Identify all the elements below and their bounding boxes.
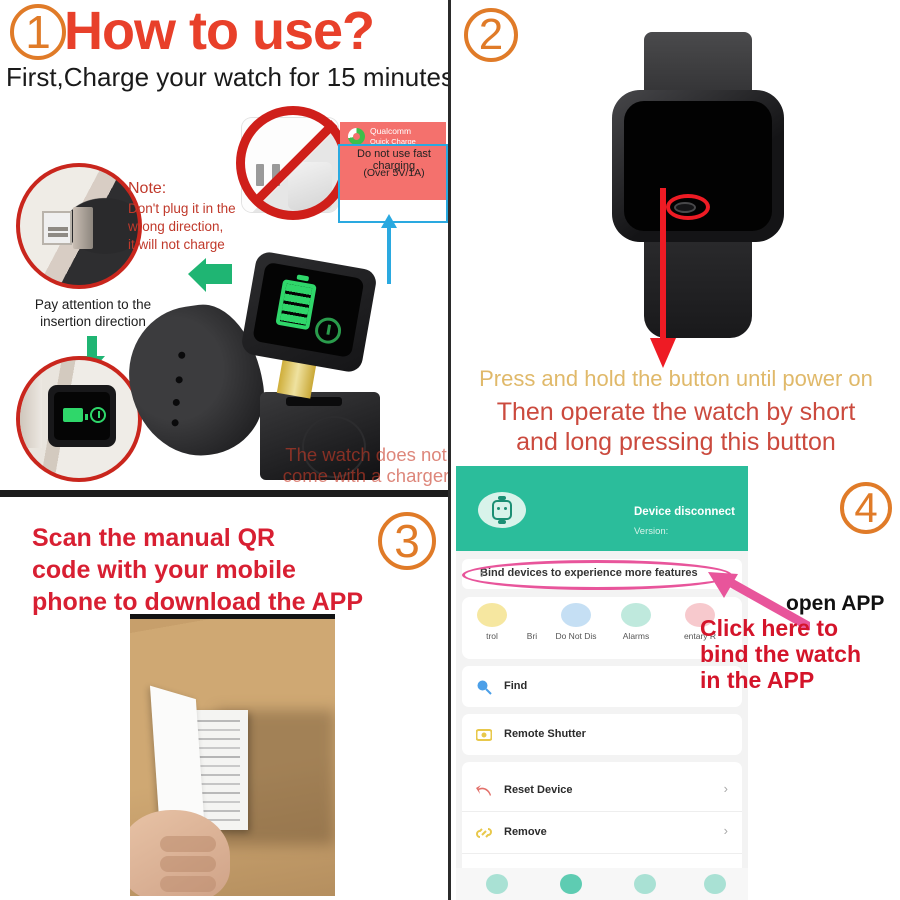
tab-1-icon[interactable] <box>486 874 508 894</box>
panel-how-to-use: 1 How to use? First,Charge your watch fo… <box>0 0 448 492</box>
fast-charge-spec: (Over 5V/1A) <box>343 167 445 179</box>
watch-icon <box>492 500 512 520</box>
chevron-right-icon: › <box>724 823 728 838</box>
alarms-icon <box>621 603 651 627</box>
scan-qr-line-2: code with your mobile <box>32 554 372 586</box>
brightness-icon <box>477 603 507 627</box>
battery-icon <box>63 408 83 422</box>
power-icon <box>313 316 343 346</box>
list-item[interactable]: Remove › <box>462 812 742 854</box>
power-icon <box>90 407 106 423</box>
note-header: Note: <box>128 178 236 199</box>
scan-qr-title: Scan the manual QR code with your mobile… <box>32 522 372 618</box>
step-number-2: 2 <box>464 8 518 62</box>
list-item[interactable]: Remote Shutter <box>462 714 742 755</box>
scan-qr-line-1: Scan the manual QR <box>32 522 372 554</box>
camera-icon <box>476 727 492 743</box>
avatar <box>478 492 526 528</box>
quick-icon-2[interactable]: Do Not Dis <box>548 603 604 641</box>
power-on-instruction: Press and hold the button until power on <box>452 366 900 392</box>
usb-port-edge <box>20 378 42 448</box>
chevron-right-icon: › <box>724 781 728 796</box>
no-fast-charge-graphic: Qualcomm Quick Charge Do not use fast ch… <box>240 112 446 230</box>
blue-arrow-icon <box>381 212 397 284</box>
horizontal-divider-right <box>452 459 900 463</box>
step-number-3: 3 <box>378 512 436 570</box>
note-line-1: Don't plug it in the <box>128 200 236 218</box>
operate-instruction-line1: Then operate the watch by short <box>452 398 900 427</box>
usb-port-icon <box>42 211 72 245</box>
note-line-3: it will not charge <box>128 236 236 254</box>
watch-head <box>240 250 378 374</box>
page-title: How to use? <box>64 0 374 62</box>
link-icon <box>476 825 492 841</box>
step-number-4: 4 <box>840 482 892 534</box>
search-icon <box>476 679 492 695</box>
quick-icon-3[interactable]: Alarms <box>608 603 664 641</box>
list-item-label: Reset Device <box>504 784 573 796</box>
quick-icon-label: Do Not Dis <box>548 631 604 641</box>
qualcomm-icon <box>348 128 365 145</box>
list-item[interactable]: Reset Device › <box>462 770 742 812</box>
app-header: Device disconnect Version: <box>456 466 748 551</box>
watch-case <box>612 90 784 242</box>
smartwatch-front-photo <box>588 32 808 332</box>
tab-2-icon[interactable] <box>560 874 582 894</box>
list-item-label: Find <box>504 680 527 692</box>
step-number-1: 1 <box>10 4 66 60</box>
red-arrow-icon <box>648 188 678 370</box>
instruction-collage: 1 How to use? First,Charge your watch fo… <box>0 0 900 900</box>
no-charger-note: The watch does not come with a charger <box>278 444 448 487</box>
watch-screen-large <box>252 262 364 358</box>
qualcomm-text: Qualcomm Quick Charge <box>370 126 416 146</box>
bind-annotation-line-2: bind the watch <box>700 642 900 668</box>
quick-icon-label: Alarms <box>608 631 664 641</box>
prohibition-icon <box>236 106 350 220</box>
list-item-label: Remove <box>504 826 547 838</box>
device-status: Device disconnect <box>634 506 735 518</box>
bind-annotation-line-1: Click here to <box>700 616 900 642</box>
open-app-annotation: open APP <box>786 592 884 616</box>
usb-connector <box>73 207 93 249</box>
note-block: Note: Don't plug it in the wrong directi… <box>128 178 236 254</box>
bind-annotation-line-3: in the APP <box>700 668 900 694</box>
qualcomm-brand: Qualcomm <box>370 126 416 137</box>
undo-arrow-icon <box>476 783 492 799</box>
watch-screen <box>54 392 110 440</box>
operate-instruction-line2: and long pressing this button <box>452 428 900 457</box>
manual-photo <box>130 614 335 896</box>
bind-annotation: Click here to bind the watch in the APP <box>700 616 900 693</box>
version-label: Version: <box>634 526 668 537</box>
bottom-tab-bar <box>456 868 748 900</box>
dock-slot <box>286 397 342 406</box>
battery-icon <box>275 279 316 330</box>
horizontal-divider <box>0 490 448 497</box>
vertical-divider <box>448 0 451 900</box>
tab-4-icon[interactable] <box>704 874 726 894</box>
charge-subtitle: First,Charge your watch for 15 minutes <box>6 62 448 93</box>
do-not-disturb-icon <box>561 603 591 627</box>
qualcomm-logo-row: Qualcomm Quick Charge <box>348 126 416 146</box>
note-line-2: wrong direction, <box>128 218 236 236</box>
list-item-label: Remote Shutter <box>504 728 586 740</box>
tab-3-icon[interactable] <box>634 874 656 894</box>
watch-body <box>48 385 116 447</box>
